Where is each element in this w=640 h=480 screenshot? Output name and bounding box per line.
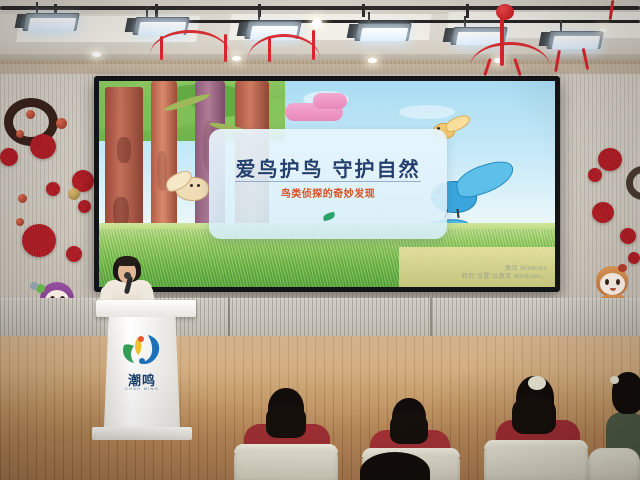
downlight-2 bbox=[232, 56, 241, 61]
chair-4 bbox=[588, 448, 640, 480]
downlight-5 bbox=[600, 28, 607, 32]
panel-seam-2 bbox=[430, 298, 432, 338]
red-paper-fan-rosette-4 bbox=[22, 224, 56, 257]
decor-ball-4 bbox=[18, 194, 27, 203]
watermark-line-2: 转到"设置"以激活 Windows。 bbox=[462, 273, 547, 281]
red-paper-fan-rosette-r3 bbox=[592, 202, 614, 223]
leaf-icon bbox=[322, 212, 335, 222]
slide-subtitle: 鸟类侦探的奇妙发现 bbox=[209, 185, 447, 200]
red-paper-fan-rosette-r5 bbox=[628, 252, 640, 264]
decor-ball-1 bbox=[56, 118, 67, 129]
red-paper-fan-rosette-1 bbox=[30, 134, 56, 159]
led-display-bezel: 爱鸟护鸟 守护自然 鸟类侦探的奇妙发现 激活 Windows 转到"设置"以激活… bbox=[94, 76, 560, 292]
panel-seam-1 bbox=[228, 298, 230, 338]
decor-ball-3 bbox=[16, 130, 24, 138]
student-4-hair-clip bbox=[610, 376, 619, 384]
downlight-3 bbox=[368, 58, 377, 63]
podium-base bbox=[92, 427, 192, 440]
microphone-head-icon bbox=[124, 272, 131, 279]
student-3-hair-clip bbox=[528, 376, 546, 390]
ribbon-tassel-3 bbox=[268, 36, 271, 62]
ribbon-tassel-2 bbox=[224, 34, 227, 62]
ribbon-tassel-4 bbox=[312, 30, 315, 60]
truss-drop-4 bbox=[362, 4, 365, 17]
cloud-pink-2 bbox=[313, 93, 347, 109]
windows-activation-watermark: 激活 Windows 转到"设置"以激活 Windows。 bbox=[462, 265, 547, 281]
slide-title: 爱鸟护鸟 守护自然 bbox=[209, 153, 447, 182]
truss-drop-5 bbox=[466, 4, 469, 18]
red-lantern-icon bbox=[496, 4, 514, 20]
slide-title-underline bbox=[235, 181, 421, 182]
swoosh-logo-icon bbox=[118, 333, 164, 367]
bird-perched-tan bbox=[165, 173, 209, 201]
red-paper-fan-rosette-r1 bbox=[598, 148, 622, 171]
globe-light bbox=[312, 18, 322, 28]
decor-ball-gold bbox=[68, 188, 80, 200]
truss-drop-2 bbox=[155, 4, 158, 18]
podium-logo-pinyin: CHAO MING bbox=[104, 386, 180, 391]
downlight-1 bbox=[92, 52, 101, 57]
watermark-line-1: 激活 Windows bbox=[462, 265, 547, 273]
student-2-hair bbox=[390, 412, 428, 444]
red-paper-fan-rosette-5 bbox=[46, 182, 60, 196]
red-paper-fan-rosette-6 bbox=[66, 246, 82, 262]
student-1-hair bbox=[266, 404, 306, 438]
red-paper-fan-rosette-7 bbox=[78, 200, 91, 213]
slide-title-card: 爱鸟护鸟 守护自然 鸟类侦探的奇妙发现 bbox=[209, 129, 447, 239]
chair-1-top bbox=[234, 444, 338, 453]
red-paper-fan-rosette-r4 bbox=[620, 228, 636, 244]
speaker-hair-front bbox=[116, 256, 138, 266]
red-paper-fan-rosette-r2 bbox=[588, 168, 602, 182]
decor-ball-5 bbox=[16, 218, 24, 226]
led-display-screen[interactable]: 爱鸟护鸟 守护自然 鸟类侦探的奇妙发现 激活 Windows 转到"设置"以激活… bbox=[99, 81, 555, 287]
lighting-truss-bar bbox=[0, 6, 640, 10]
student-3-hair bbox=[512, 396, 556, 434]
decor-ball-2 bbox=[26, 110, 35, 119]
auditorium-scene: 爱鸟护鸟 守护自然 鸟类侦探的奇妙发现 激活 Windows 转到"设置"以激活… bbox=[0, 0, 640, 480]
podium-top bbox=[96, 300, 196, 317]
chair-3-top bbox=[484, 440, 588, 449]
ribbon-tassel-1 bbox=[160, 36, 163, 60]
red-paper-fan-rosette-2 bbox=[0, 148, 18, 166]
